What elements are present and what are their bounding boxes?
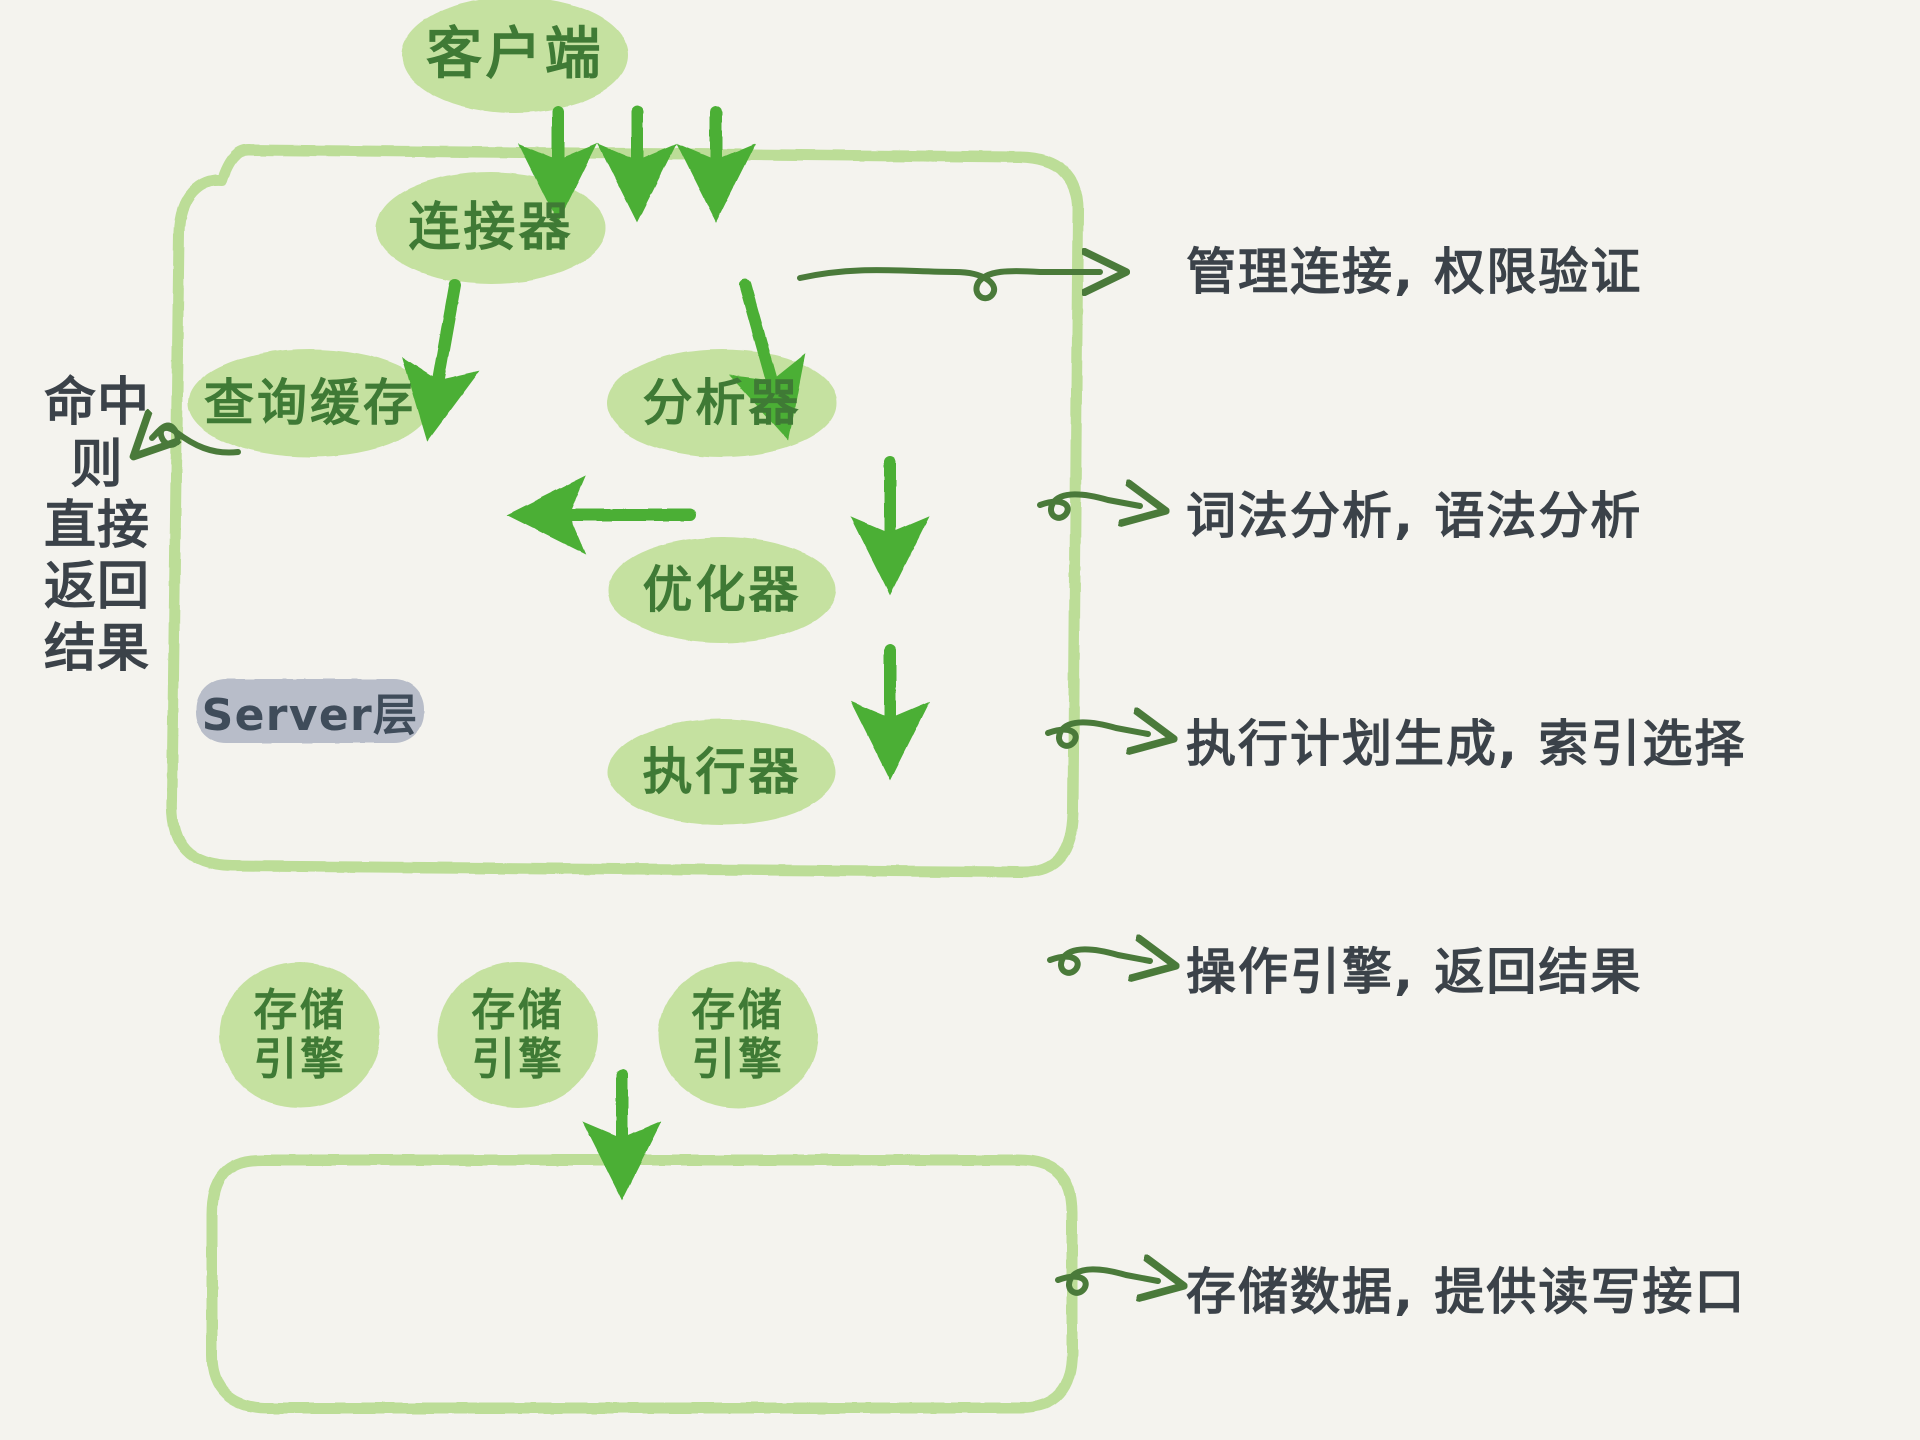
executor-node[interactable]: 执行器 [607,734,837,810]
annotation-optimizer: 执行计划生成, 索引选择 [1186,704,1746,776]
query-cache-node-label: 查询缓存 [204,375,416,431]
ann-arrow-storage [1058,1269,1158,1292]
parser-node[interactable]: 分析器 [607,365,837,441]
storage-engine-3-label: 存储 引擎 [691,986,784,1085]
ann-arrow-optimizer [1048,722,1148,745]
annotation-executor: 操作引擎, 返回结果 [1186,932,1642,1004]
annotation-optimizer-text: 执行计划生成, 索引选择 [1186,715,1746,773]
optimizer-node[interactable]: 优化器 [607,552,837,628]
annotation-parser-text: 词法分析, 语法分析 [1186,487,1642,545]
annotation-executor-text: 操作引擎, 返回结果 [1186,943,1642,1001]
annotation-storage-text: 存储数据, 提供读写接口 [1186,1263,1746,1321]
cache-hit-note-text: 命中 则 直接 返回 结果 [44,373,150,678]
diagram-canvas: 客户端 连接器 查询缓存 分析器 优化器 执行器 存储 引擎 存储 引擎 存储 … [0,0,1920,1440]
storage-layer-container [212,1160,1072,1408]
client-node-label: 客户端 [426,24,604,87]
query-cache-node[interactable]: 查询缓存 [188,365,432,441]
ann-arrow-executor [1050,949,1150,972]
executor-node-label: 执行器 [643,744,802,800]
storage-engine-2-label: 存储 引擎 [471,986,564,1085]
storage-engine-3[interactable]: 存储 引擎 [660,970,816,1100]
ann-arrow-connector [800,270,1100,298]
annotation-parser: 词法分析, 语法分析 [1186,476,1642,548]
storage-engine-2[interactable]: 存储 引擎 [440,970,596,1100]
optimizer-node-label: 优化器 [643,562,802,618]
client-node[interactable]: 客户端 [400,12,630,98]
storage-engine-1[interactable]: 存储 引擎 [222,970,378,1100]
server-layer-tag-label: Server层 [202,679,419,743]
annotation-storage: 存储数据, 提供读写接口 [1186,1252,1746,1324]
ann-arrow-parser [1040,494,1140,517]
annotation-connector-text: 管理连接, 权限验证 [1186,243,1642,301]
cache-hit-note: 命中 则 直接 返回 结果 [34,312,160,680]
storage-engine-1-label: 存储 引擎 [253,986,346,1085]
annotation-connector: 管理连接, 权限验证 [1186,232,1642,304]
arrow-connector-to-cache [436,285,455,392]
connector-node-label: 连接器 [408,199,573,257]
connector-node[interactable]: 连接器 [376,188,606,268]
server-layer-tag: Server层 [196,679,424,743]
parser-node-label: 分析器 [643,375,802,431]
